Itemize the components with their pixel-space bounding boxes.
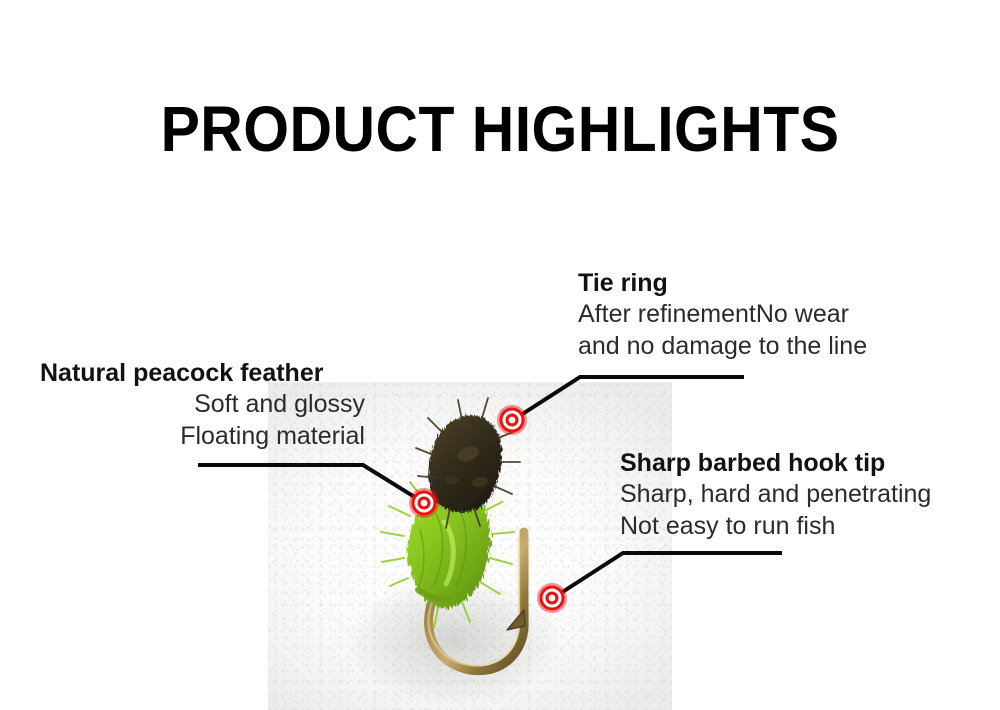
callout-line: Not easy to run fish (620, 510, 931, 542)
callout-hook-tip: Sharp barbed hook tip Sharp, hard and pe… (620, 448, 931, 542)
marker-hook-tip[interactable] (535, 581, 569, 615)
callout-title: Tie ring (578, 268, 867, 298)
marker-tie-ring[interactable] (495, 403, 529, 437)
bullseye-target-icon (535, 581, 569, 615)
marker-peacock-feather[interactable] (407, 486, 441, 520)
callout-line: After refinementNo wear (578, 298, 867, 330)
callout-line: Sharp, hard and penetrating (620, 478, 931, 510)
callout-line: Soft and glossy (40, 388, 365, 420)
callout-peacock-feather: Natural peacock feather Soft and glossy … (40, 358, 365, 452)
bullseye-target-icon (495, 403, 529, 437)
infographic-page: PRODUCT HIGHLIGHTS (0, 0, 1000, 710)
callout-tie-ring: Tie ring After refinementNo wear and no … (578, 268, 867, 362)
callout-title: Sharp barbed hook tip (620, 448, 931, 478)
page-title: PRODUCT HIGHLIGHTS (40, 96, 960, 163)
callout-title: Natural peacock feather (40, 358, 365, 388)
callout-line: Floating material (40, 420, 365, 452)
bullseye-target-icon (407, 486, 441, 520)
callout-line: and no damage to the line (578, 330, 867, 362)
